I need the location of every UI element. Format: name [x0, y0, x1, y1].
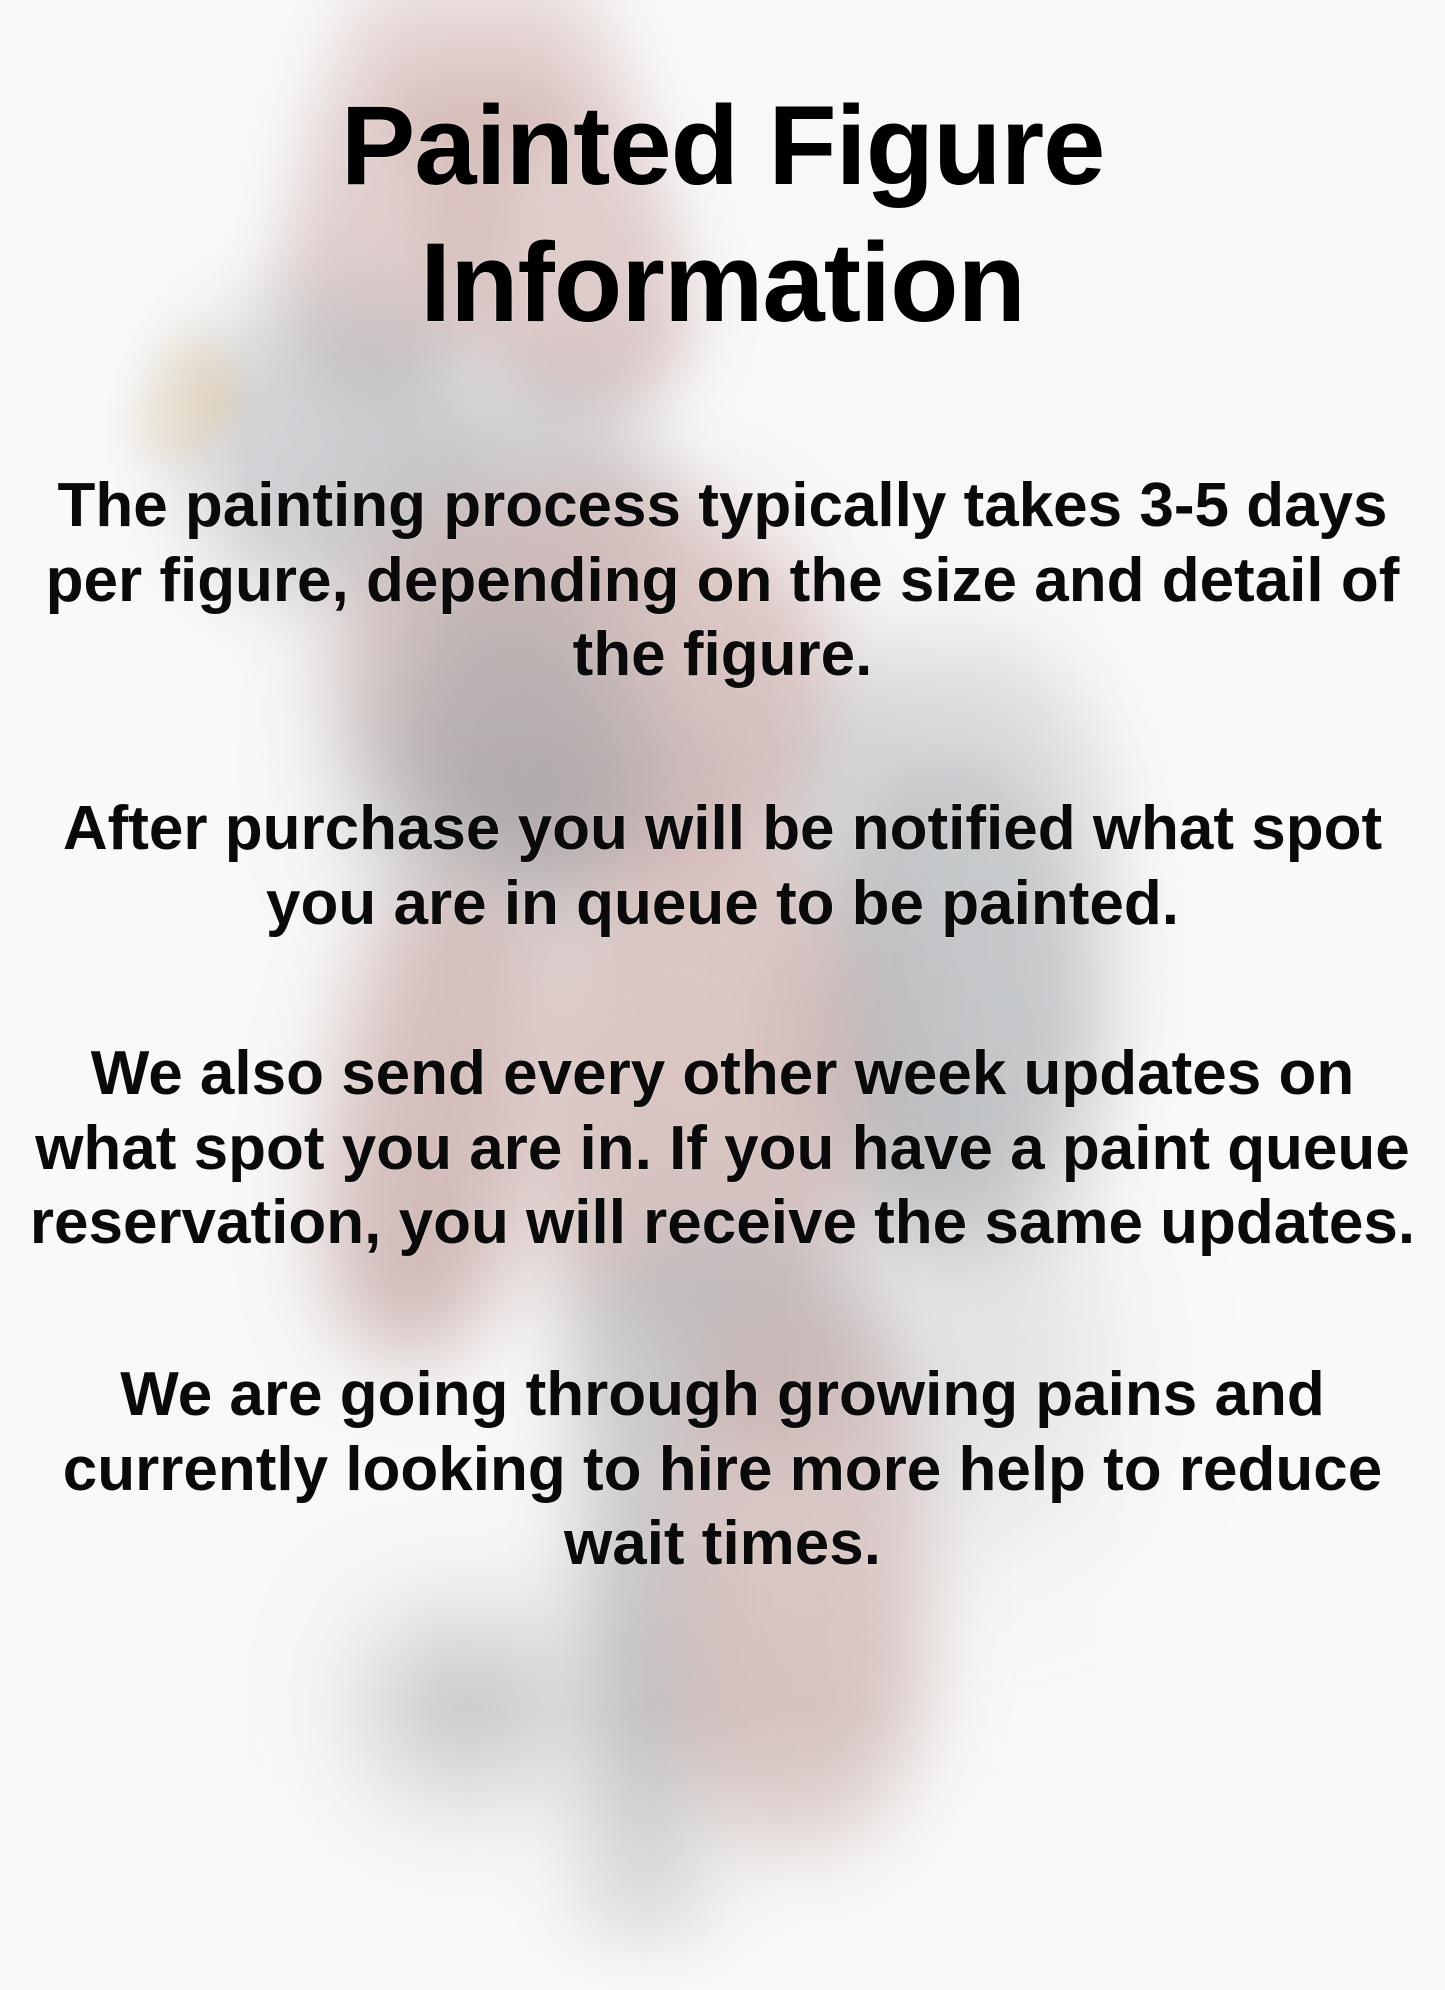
paragraph-queue-notification: After purchase you will be notified what… [28, 792, 1417, 941]
page-title: Painted Figure Information [28, 0, 1417, 351]
paragraph-growing-pains: We are going through growing pains and c… [28, 1358, 1417, 1581]
bottom-spacer [28, 1582, 1417, 1692]
poster-content: Painted Figure Information The painting … [0, 0, 1445, 1990]
paragraph-biweekly-updates: We also send every other week updates on… [28, 1037, 1417, 1260]
paragraph-turnaround-time: The painting process typically takes 3-5… [28, 469, 1417, 692]
poster-canvas: Painted Figure Information The painting … [0, 0, 1445, 1990]
